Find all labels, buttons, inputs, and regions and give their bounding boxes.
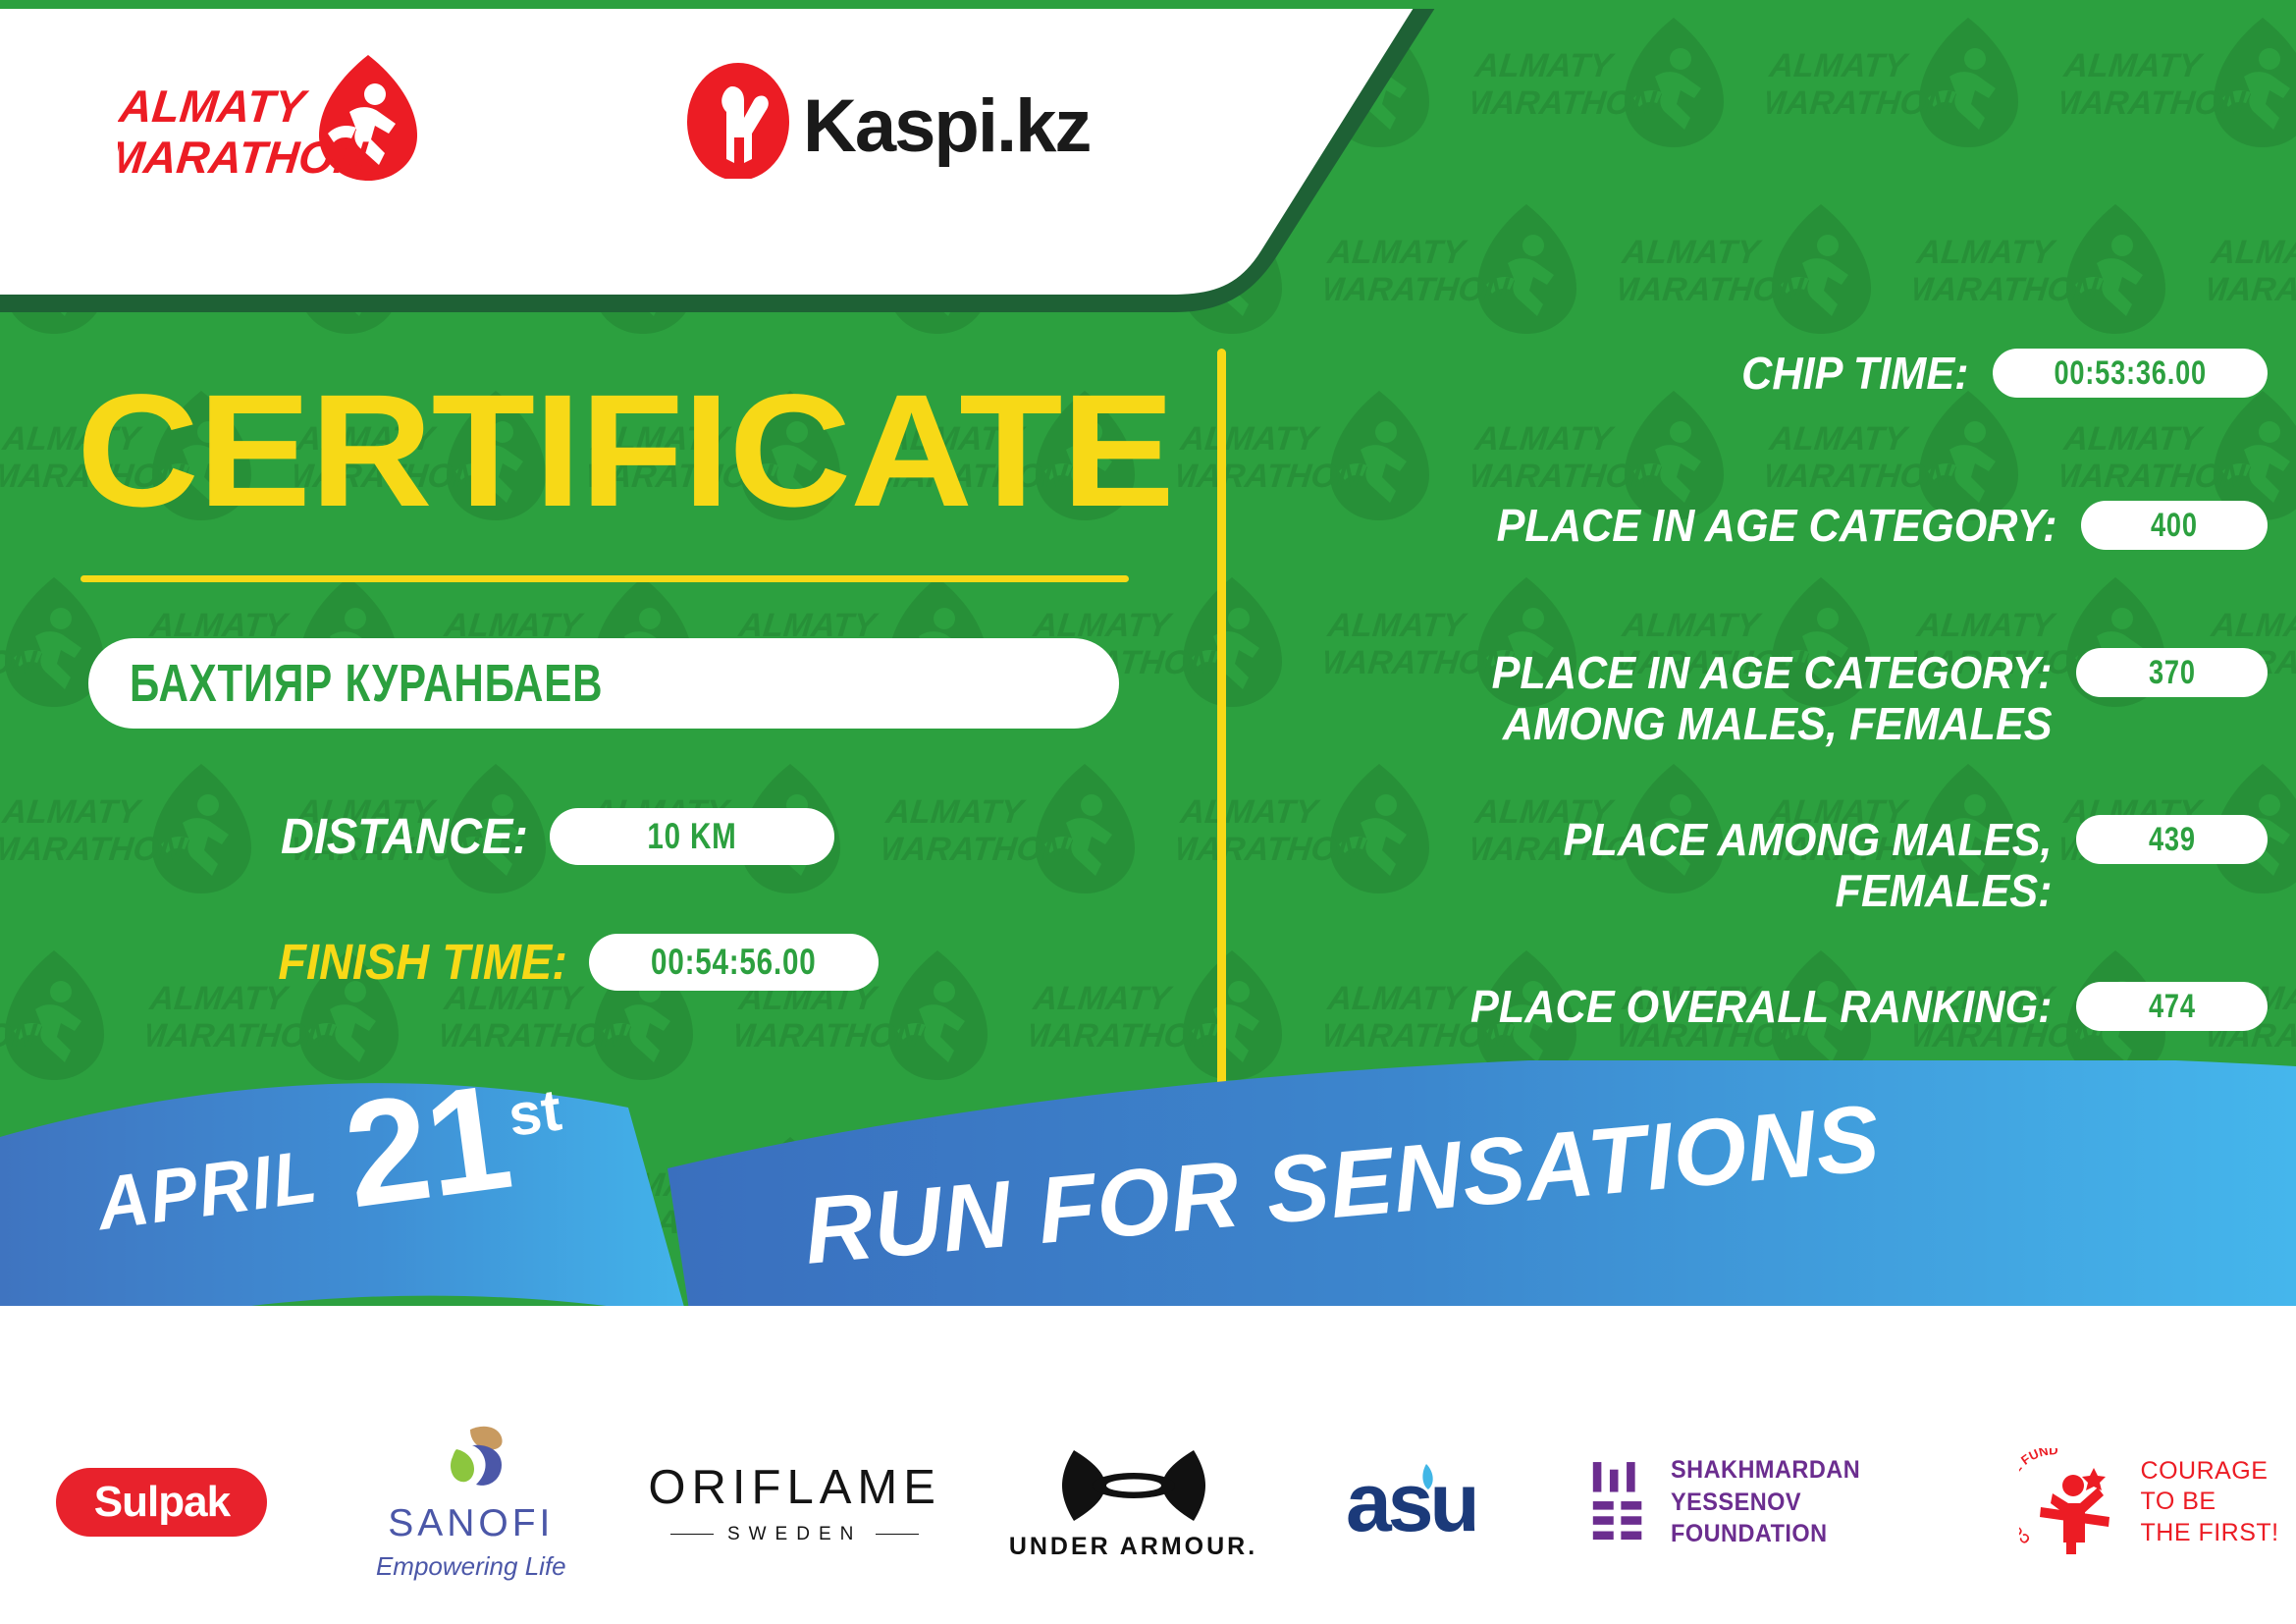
under-armour-wordmark: UNDER ARMOUR.	[1009, 1533, 1257, 1561]
finish-time-label: FINISH TIME:	[47, 933, 589, 991]
sponsor-asu: asu	[1295, 1404, 1589, 1600]
sponsor-under-armour: UNDER ARMOUR.	[972, 1404, 1296, 1600]
sanofi-tagline: Empowering Life	[376, 1551, 566, 1582]
finish-time-value: 00:54:56.00	[651, 942, 816, 983]
sanofi-bird-icon	[427, 1424, 515, 1498]
stat-label: PLACE AMONG MALES, FEMALES:	[1306, 815, 2076, 916]
sanofi-logo: SANOFI Empowering Life	[376, 1424, 566, 1582]
oriflame-wordmark: ORIFLAME	[648, 1460, 940, 1515]
svg-text:ALMATY: ALMATY	[2061, 420, 2206, 458]
yessenov-bars-icon	[1589, 1458, 1651, 1546]
sponsor-oriflame: ORIFLAME SWEDEN	[618, 1404, 972, 1600]
svg-text:MARATHON: MARATHON	[1178, 458, 1364, 495]
svg-text:ALMATY: ALMATY	[1325, 607, 1469, 644]
sponsor-strip: Sulpak SANOFI Empowering Life ORIFLAME S…	[0, 1404, 2296, 1600]
stat-value-pill: 400	[2081, 501, 2268, 550]
stat-value: 439	[2149, 821, 2196, 859]
stat-value: 400	[2151, 507, 2198, 545]
distance-row: DISTANCE: 10 KM	[0, 807, 982, 865]
stat-row: PLACE IN AGE CATEGORY: 400	[1256, 501, 2268, 552]
courage-fund-text: COURAGE TO BE THE FIRST!	[2141, 1456, 2279, 1548]
stat-row: PLACE OVERALL RANKING: 474	[1256, 982, 2268, 1033]
stat-value-pill: 370	[2076, 648, 2268, 697]
certificate-left-column: CERTIFICATE БАХТИЯР КУРАНБАЕВ DISTANCE: …	[0, 334, 1158, 1119]
page-title: CERTIFICATE	[77, 375, 1174, 527]
svg-text:MARATHON: MARATHON	[1472, 458, 1659, 495]
stat-value: 474	[2149, 988, 2196, 1026]
sponsor-courage-fund: CORPORATE FUND COURAGE TO BE THE FIRST!	[2002, 1404, 2296, 1600]
stat-label: PLACE IN AGE CATEGORY: AMONG MALES, FEMA…	[1306, 648, 2076, 749]
almaty-text: ALMATY	[118, 81, 311, 132]
kaspi-logo: Kaspi.kz	[677, 61, 1090, 179]
courage-runner-icon: CORPORATE FUND	[2019, 1448, 2127, 1556]
marathon-text: MARATHON	[118, 132, 371, 183]
courage-fund-logo: CORPORATE FUND COURAGE TO BE THE FIRST!	[2019, 1448, 2279, 1556]
athlete-name-value: БАХТИЯР КУРАНБАЕВ	[130, 653, 603, 714]
distance-value-pill: 10 KM	[550, 808, 834, 865]
oriflame-logo: ORIFLAME SWEDEN	[648, 1460, 940, 1545]
sponsor-yessenov-foundation: SHAKHMARDAN YESSENOV FOUNDATION	[1589, 1404, 2002, 1600]
stat-label: PLACE IN AGE CATEGORY:	[1306, 501, 2081, 552]
sponsor-sanofi: SANOFI Empowering Life	[324, 1404, 618, 1600]
svg-text:ALMATY: ALMATY	[1620, 607, 1764, 644]
svg-text:ALMATY: ALMATY	[1472, 420, 1617, 458]
stat-label: PLACE OVERALL RANKING:	[1306, 982, 2076, 1033]
under-armour-icon	[1060, 1444, 1207, 1527]
yessenov-logo: SHAKHMARDAN YESSENOV FOUNDATION	[1589, 1454, 2002, 1550]
stat-value-pill: 474	[2076, 982, 2268, 1031]
sanofi-wordmark: SANOFI	[376, 1502, 566, 1545]
svg-text:MARATHON: MARATHON	[1767, 458, 1953, 495]
stat-value: 00:53:36.00	[2054, 354, 2207, 393]
distance-label: DISTANCE:	[44, 807, 550, 865]
svg-text:ALMATY: ALMATY	[2209, 607, 2296, 644]
kaspi-person-icon	[687, 63, 789, 179]
asu-logo: asu	[1344, 1456, 1540, 1549]
oriflame-rule-left	[670, 1534, 714, 1535]
finish-time-row: FINISH TIME: 00:54:56.00	[0, 933, 982, 991]
stat-row: PLACE IN AGE CATEGORY: AMONG MALES, FEMA…	[1256, 648, 2268, 749]
svg-text:ALMATY: ALMATY	[1767, 420, 1911, 458]
svg-text:ALMATY: ALMATY	[1914, 607, 2058, 644]
svg-text:ALMATY: ALMATY	[1178, 420, 1322, 458]
sulpak-logo: Sulpak	[56, 1468, 267, 1537]
asu-wordmark-icon: asu	[1344, 1456, 1540, 1544]
svg-text:MARATHON: MARATHON	[2061, 458, 2248, 495]
stat-row: CHIP TIME: 00:53:36.00	[1256, 349, 2268, 400]
oriflame-rule-right	[876, 1534, 919, 1535]
kaspi-wordmark: Kaspi.kz	[803, 84, 1090, 168]
title-underline	[80, 575, 1129, 582]
sulpak-wordmark: Sulpak	[94, 1478, 230, 1527]
stat-value: 370	[2149, 654, 2196, 692]
yessenov-wordmark: SHAKHMARDAN YESSENOV FOUNDATION	[1671, 1454, 1982, 1550]
stat-value-pill: 00:53:36.00	[1993, 349, 2268, 398]
oriflame-sub: SWEDEN	[648, 1524, 940, 1545]
column-divider	[1217, 349, 1226, 1100]
athlete-name-field: БАХТИЯР КУРАНБАЕВ	[88, 638, 1119, 729]
svg-text:asu: asu	[1346, 1456, 1476, 1544]
finish-time-value-pill: 00:54:56.00	[589, 934, 879, 991]
header-logos: ALMATY MARATHON Kaspi.kz	[0, 0, 1178, 275]
almaty-marathon-logo: ALMATY MARATHON	[118, 51, 442, 189]
distance-value: 10 KM	[647, 816, 736, 857]
sponsor-sulpak: Sulpak	[0, 1404, 324, 1600]
under-armour-logo: UNDER ARMOUR.	[1009, 1444, 1257, 1561]
stat-row: PLACE AMONG MALES, FEMALES: 439	[1256, 815, 2268, 916]
stat-label: CHIP TIME:	[1301, 349, 1993, 400]
stat-value-pill: 439	[2076, 815, 2268, 864]
oriflame-sub-text: SWEDEN	[727, 1524, 862, 1545]
